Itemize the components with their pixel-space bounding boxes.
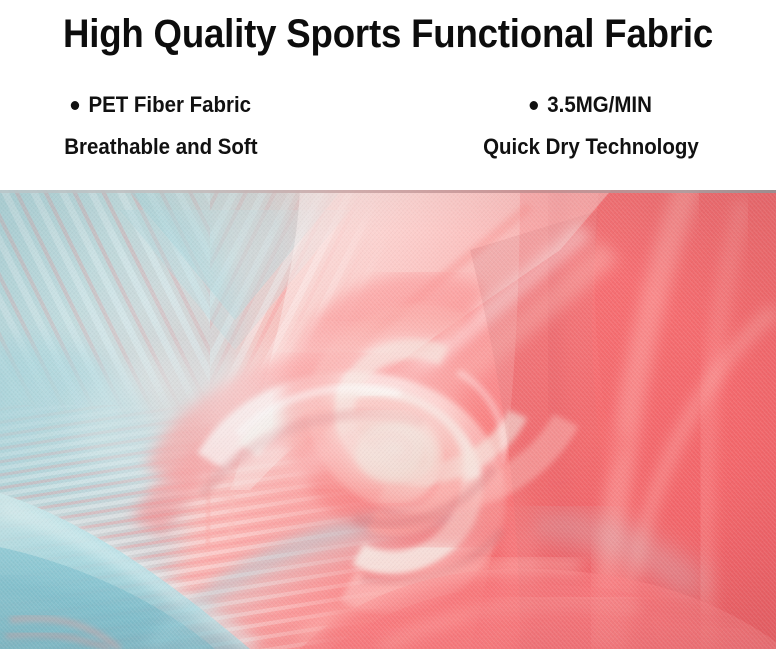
fabric-photo — [0, 190, 776, 649]
feature-item-0: PET Fiber Fabric Breathable and Soft — [0, 92, 388, 160]
bullet-dot-icon — [530, 101, 538, 110]
product-banner: High Quality Sports Functional Fabric PE… — [0, 0, 776, 649]
bullet-dot-icon — [71, 101, 79, 110]
feature-subtext-0: Breathable and Soft — [64, 134, 257, 160]
feature-headline-0: PET Fiber Fabric — [71, 92, 251, 118]
feature-item-1: 3.5MG/MIN Quick Dry Technology — [388, 92, 776, 160]
page-title: High Quality Sports Functional Fabric — [33, 12, 743, 56]
fabric-photo-illustration — [0, 190, 776, 649]
feature-headline-label-0: PET Fiber Fabric — [89, 92, 252, 118]
feature-subtext-1: Quick Dry Technology — [483, 134, 699, 160]
feature-headline-label-1: 3.5MG/MIN — [548, 92, 653, 118]
feature-list: PET Fiber Fabric Breathable and Soft 3.5… — [0, 92, 776, 160]
feature-headline-1: 3.5MG/MIN — [530, 92, 652, 118]
header-text-block: High Quality Sports Functional Fabric PE… — [0, 0, 776, 190]
